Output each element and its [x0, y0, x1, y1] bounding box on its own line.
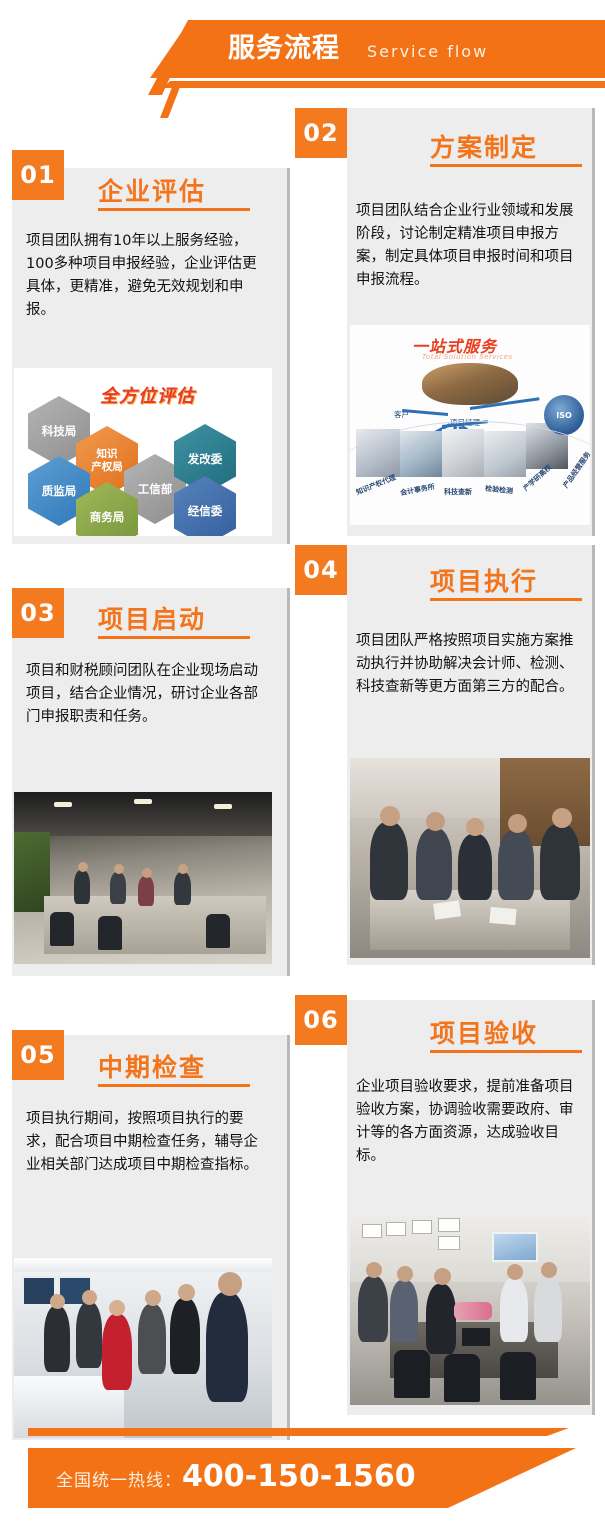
- card-04-number-badge: 04: [295, 545, 347, 595]
- photo-person-head: [109, 1300, 125, 1316]
- photo-chair: [500, 1352, 536, 1400]
- photo-person-head: [508, 814, 527, 833]
- photo-person-head: [178, 864, 188, 874]
- one-stop-label-novelty: 科技查新: [444, 487, 472, 497]
- card-03-number-badge: 03: [12, 588, 64, 638]
- photo-person: [458, 834, 492, 900]
- photo-chair: [394, 1350, 430, 1398]
- card-01-number-badge: 01: [12, 150, 64, 200]
- one-stop-subtitle: Total Solution Services: [422, 353, 513, 361]
- photo-person-head: [82, 1290, 97, 1305]
- card-02-body: 项目团队结合企业行业领域和发展阶段，讨论制定精准项目申报方案，制定具体项目申报时…: [356, 200, 584, 292]
- photo-person-head: [552, 808, 572, 828]
- card-05-title: 中期检查: [98, 1048, 206, 1084]
- hexagon-node-label: 经信委: [188, 505, 223, 518]
- photo-person-head: [397, 1266, 413, 1282]
- photo-person-head: [434, 1268, 451, 1285]
- card-03-body: 项目和财税顾问团队在企业现场启动项目，结合企业情况，研讨企业各部门申报职责和任务…: [26, 660, 270, 729]
- hexagon-node-label: 商务局: [90, 511, 125, 524]
- photo-person: [370, 822, 408, 900]
- photo-person: [534, 1276, 562, 1342]
- footer-hotline-number: 400-150-1560: [182, 1459, 416, 1494]
- one-stop-center-photo: [422, 363, 518, 405]
- one-stop-curve-decoration: [350, 421, 590, 525]
- card-05-title-rule: [98, 1084, 250, 1087]
- photo-person-head: [218, 1272, 242, 1296]
- card-06-title-rule: [430, 1050, 582, 1053]
- photo-person-head: [466, 818, 484, 836]
- card-04-title: 项目执行: [430, 562, 538, 598]
- photo-person: [174, 872, 191, 905]
- photo-boardroom-acceptance: [350, 1210, 590, 1405]
- photo-person: [138, 1304, 166, 1374]
- card-02-number-badge: 02: [295, 108, 347, 158]
- photo-person-head: [78, 862, 88, 872]
- photo-person-head: [366, 1262, 382, 1278]
- photo-certificate-frame: [438, 1236, 460, 1250]
- photo-showroom-visit: [14, 1258, 272, 1438]
- photo-person-head: [507, 1264, 523, 1280]
- card-06-number-badge: 06: [295, 995, 347, 1045]
- photo-certificate-frame: [412, 1220, 432, 1234]
- photo-chair: [50, 912, 74, 946]
- photo-table: [44, 896, 266, 954]
- hexagon-infographic-title: 全方位评估: [100, 382, 195, 408]
- photo-certificate-frame: [438, 1218, 460, 1232]
- card-05-number-badge: 05: [12, 1030, 64, 1080]
- photo-conference-discussion: [350, 758, 590, 958]
- photo-person: [500, 1278, 528, 1342]
- page-subtitle: Service flow: [367, 41, 488, 63]
- photo-document: [489, 907, 516, 925]
- footer-hotline-label: 全国统一热线：: [56, 1466, 182, 1491]
- photo-person: [74, 870, 90, 904]
- photo-person: [426, 1284, 456, 1354]
- card-01-title: 企业评估: [98, 172, 206, 208]
- one-stop-service-infographic: 一站式服务 Total Solution Services 客户 项目经理 IS…: [350, 325, 590, 525]
- card-03-title: 项目启动: [98, 600, 206, 636]
- photo-chair: [98, 916, 122, 950]
- photo-person-head: [380, 806, 400, 826]
- card-06-title: 项目验收: [430, 1014, 538, 1050]
- card-02-title: 方案制定: [430, 128, 538, 164]
- hexagon-node-label: 科技局: [42, 425, 77, 438]
- photo-ceiling-light-3: [214, 804, 232, 809]
- hexagon-assessment-infographic: 全方位评估 科技局 知识产权局 质监局 工信部 商务局 发改委 经信委: [14, 368, 272, 536]
- photo-chair: [444, 1354, 480, 1402]
- photo-certificate-frame: [386, 1222, 406, 1236]
- photo-person: [206, 1292, 248, 1402]
- photo-person: [76, 1302, 102, 1368]
- card-05-body: 项目执行期间，按照项目执行的要求，配合项目中期检查任务，辅导企业相关部门达成项目…: [26, 1108, 270, 1177]
- photo-person: [138, 876, 154, 906]
- card-04-body: 项目团队严格按照项目实施方案推动执行并协助解决会计师、检测、科技查新等更方面第三…: [356, 630, 584, 699]
- photo-person: [110, 872, 126, 904]
- photo-person: [44, 1306, 70, 1372]
- page-title: 服务流程: [228, 33, 340, 65]
- photo-person: [390, 1280, 418, 1342]
- hexagon-node-label: 工信部: [138, 483, 173, 496]
- photo-person-head: [541, 1262, 557, 1278]
- photo-person: [416, 828, 452, 900]
- photo-person: [498, 830, 534, 900]
- hexagon-node-label: 发改委: [188, 453, 223, 466]
- photo-person-head: [142, 868, 152, 878]
- photo-person-head: [145, 1290, 161, 1306]
- photo-person-head: [426, 812, 445, 831]
- hexagon-node-label: 质监局: [42, 485, 77, 498]
- photo-person: [170, 1298, 200, 1374]
- card-04-title-rule: [430, 598, 582, 601]
- photo-ceiling-lights: [14, 1258, 272, 1272]
- photo-ceiling-light-2: [134, 799, 152, 804]
- hexagon-node-label: 知识产权局: [91, 448, 123, 474]
- photo-person-head: [114, 864, 124, 874]
- photo-flowers: [454, 1302, 492, 1320]
- photo-person-red-coat: [102, 1314, 132, 1390]
- photo-person-head: [50, 1294, 65, 1309]
- photo-chair: [206, 914, 230, 948]
- photo-person: [358, 1276, 388, 1342]
- photo-person: [540, 824, 580, 900]
- card-06-body: 企业项目验收要求，提前准备项目验收方案，协调验收需要政府、审计等的各方面资源，达…: [356, 1076, 584, 1168]
- footer-top-line: [28, 1428, 569, 1436]
- card-01-body: 项目团队拥有10年以上服务经验，100多种项目申报经验，企业评估更具体，更精准，…: [26, 230, 270, 322]
- photo-person-head: [178, 1284, 195, 1301]
- photo-laptop: [462, 1328, 490, 1346]
- header-underline-bar: [163, 81, 605, 88]
- service-flow-poster: 服务流程 Service flow 01 企业评估 项目团队拥有10年以上服务经…: [0, 0, 605, 1538]
- photo-office-meeting-room: [14, 792, 272, 964]
- card-01-title-rule: [98, 208, 250, 211]
- photo-ceiling-light-1: [54, 802, 72, 807]
- photo-projector-screen: [492, 1232, 538, 1262]
- card-02-title-rule: [430, 164, 582, 167]
- card-03-title-rule: [98, 636, 250, 639]
- photo-certificate-frame: [362, 1224, 382, 1238]
